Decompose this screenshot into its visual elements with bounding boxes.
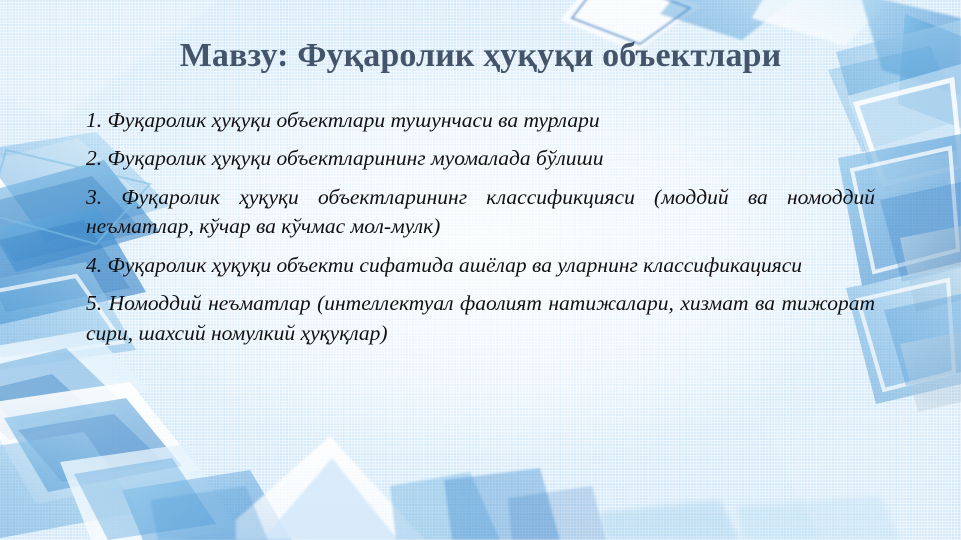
page-title: Мавзу: Фуқаролик ҳуқуқи объектлари — [0, 36, 961, 76]
list-item: 1. Фуқаролик ҳуқуқи объектлари тушунчаси… — [86, 106, 875, 135]
list-item: 5. Номоддий неъматлар (интеллектуал фаол… — [86, 289, 875, 348]
presentation-slide: Мавзу: Фуқаролик ҳуқуқи объектлари 1. Фу… — [0, 0, 961, 540]
agenda-list: 1. Фуқаролик ҳуқуқи объектлари тушунчаси… — [86, 106, 875, 348]
list-item: 2. Фуқаролик ҳуқуқи объектларининг муома… — [86, 144, 875, 173]
list-item: 4. Фуқаролик ҳуқуқи объекти сифатида ашё… — [86, 251, 875, 280]
list-item: 3. Фуқаролик ҳуқуқи объектларининг класс… — [86, 183, 875, 242]
slide-content: Мавзу: Фуқаролик ҳуқуқи объектлари 1. Фу… — [0, 0, 961, 540]
